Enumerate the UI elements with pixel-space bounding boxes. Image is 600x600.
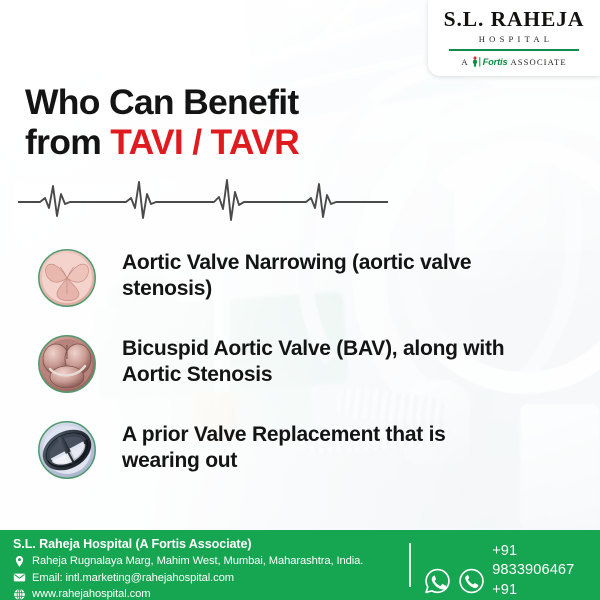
page-title: Who Can Benefit from TAVI / TAVR — [25, 82, 299, 163]
logo-associate-prefix: A — [461, 57, 468, 67]
list-item: A prior Valve Replacement that is wearin… — [36, 417, 541, 481]
footer-divider — [409, 543, 411, 587]
bicuspid-aortic-valve-icon — [36, 333, 98, 395]
logo-hospital-name: S.L. RAHEJA — [444, 9, 585, 31]
location-pin-icon — [13, 555, 26, 568]
footer-phone-numbers: +91 9833906467 +91 9167676790 — [492, 542, 600, 600]
list-item: Bicuspid Aortic Valve (BAV), along with … — [36, 331, 541, 395]
footer-website-row[interactable]: www.rahejahospital.com — [13, 588, 363, 600]
list-item: Aortic Valve Narrowing (aortic valve ste… — [36, 245, 541, 309]
logo-divider-rule — [449, 49, 579, 51]
logo-hospital-word: HOSPITAL — [479, 34, 553, 44]
headline-line-2-prefix: from — [25, 122, 110, 162]
benefit-list: Aortic Valve Narrowing (aortic valve ste… — [36, 245, 541, 503]
fortis-logo: Fortis — [472, 56, 508, 67]
mechanical-prosthetic-valve-icon — [36, 419, 98, 481]
footer-left-block: S.L. Raheja Hospital (A Fortis Associate… — [13, 537, 363, 600]
logo-associate-line: A Fortis ASSOCIATE — [461, 56, 566, 67]
hospital-logo-card: S.L. RAHEJA HOSPITAL A Fortis ASSOCIATE — [428, 0, 600, 76]
list-item-label: Aortic Valve Narrowing (aortic valve ste… — [122, 250, 522, 303]
footer-phone-block: +91 9833906467 +91 9167676790 — [424, 542, 600, 600]
headline-highlight-tavi-tavr: TAVI / TAVR — [110, 122, 299, 162]
footer-address: Raheja Rugnalaya Marg, Mahim West, Mumba… — [32, 555, 363, 567]
phone-circle-icon[interactable] — [458, 567, 485, 595]
footer-email-row[interactable]: Email: intl.marketing@rahejahospital.com — [13, 571, 363, 584]
tricuspid-aortic-valve-icon — [36, 247, 98, 309]
whatsapp-icon[interactable] — [424, 567, 451, 595]
envelope-icon — [13, 571, 26, 584]
footer-hospital-name: S.L. Raheja Hospital (A Fortis Associate… — [13, 537, 363, 551]
footer-email: Email: intl.marketing@rahejahospital.com — [32, 572, 234, 584]
ecg-heartbeat-divider — [18, 172, 388, 228]
contact-footer: S.L. Raheja Hospital (A Fortis Associate… — [0, 530, 600, 600]
footer-phone-1[interactable]: +91 9833906467 — [492, 542, 600, 581]
fortis-wordmark: Fortis — [483, 56, 508, 67]
footer-address-row: Raheja Rugnalaya Marg, Mahim West, Mumba… — [13, 555, 363, 568]
footer-phone-2[interactable]: +91 9167676790 — [492, 581, 600, 600]
logo-associate-suffix: ASSOCIATE — [510, 57, 566, 67]
list-item-label: Bicuspid Aortic Valve (BAV), along with … — [122, 336, 522, 389]
list-item-label: A prior Valve Replacement that is wearin… — [122, 422, 522, 475]
globe-icon — [13, 588, 26, 600]
fortis-figure-icon — [472, 56, 482, 67]
footer-website: www.rahejahospital.com — [32, 588, 150, 600]
headline-line-2: from TAVI / TAVR — [25, 122, 299, 162]
headline-line-1: Who Can Benefit — [25, 82, 299, 122]
poster-canvas: S.L. RAHEJA HOSPITAL A Fortis ASSOCIATE … — [0, 0, 600, 600]
